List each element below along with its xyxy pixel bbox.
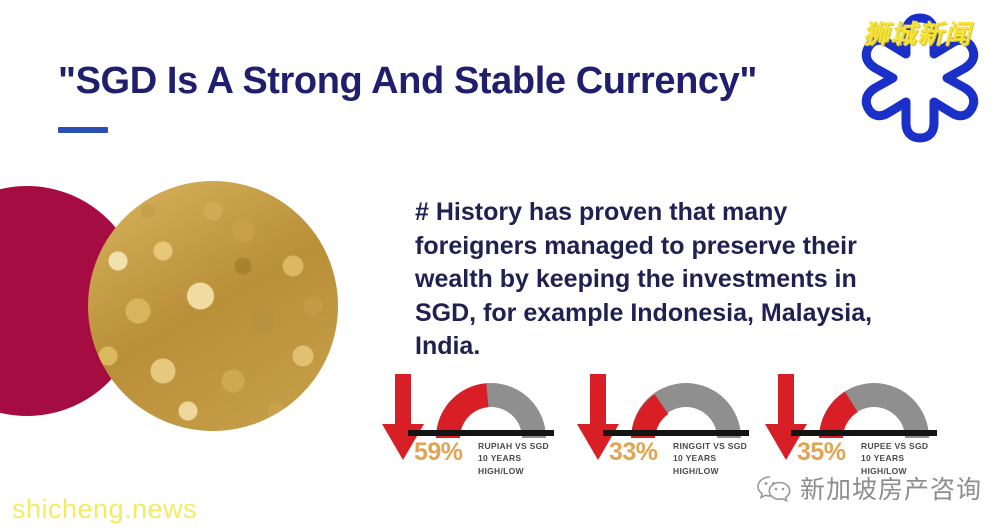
caption-line-period: 10 YEARS <box>673 452 747 464</box>
stat-caption: RINGGIT VS SGD 10 YEARS HIGH/LOW <box>673 440 747 477</box>
gauge-baseline <box>603 430 749 436</box>
gauge-baseline <box>791 430 937 436</box>
stat-percent: 35% <box>797 438 846 467</box>
wechat-badge: 新加坡房产咨询 <box>757 470 982 506</box>
gauge-baseline <box>408 430 554 436</box>
caption-line-period: 10 YEARS <box>478 452 549 464</box>
wechat-icon <box>757 474 791 502</box>
site-watermark: shicheng.news <box>12 494 197 525</box>
stat-percent: 59% <box>414 438 463 467</box>
stat-caption: RUPIAH VS SGD 10 YEARS HIGH/LOW <box>478 440 549 477</box>
body-paragraph: # History has proven that many foreigner… <box>415 196 915 364</box>
wechat-label: 新加坡房产咨询 <box>800 470 982 506</box>
stat-percent: 33% <box>609 438 658 467</box>
caption-line-period: 10 YEARS <box>861 452 928 464</box>
title-underline-accent <box>58 127 108 133</box>
slide-canvas: "SGD Is A Strong And Stable Currency" # … <box>0 0 1005 532</box>
caption-line-range: HIGH/LOW <box>478 465 549 477</box>
gold-coins-image <box>88 181 338 431</box>
caption-line-currency: RUPIAH VS SGD <box>478 440 549 452</box>
page-title: "SGD Is A Strong And Stable Currency" <box>58 60 757 103</box>
stat-block: 59% RUPIAH VS SGD 10 YEARS HIGH/LOW <box>378 368 573 478</box>
caption-line-range: HIGH/LOW <box>673 465 747 477</box>
stat-block: 33% RINGGIT VS SGD 10 YEARS HIGH/LOW <box>573 368 768 478</box>
caption-line-currency: RINGGIT VS SGD <box>673 440 747 452</box>
logo-text: 狮城新闻 <box>863 14 971 51</box>
caption-line-currency: RUPEE VS SGD <box>861 440 928 452</box>
stats-group: 59% RUPIAH VS SGD 10 YEARS HIGH/LOW 33% … <box>378 368 978 478</box>
stat-block: 35% RUPEE VS SGD 10 YEARS HIGH/LOW <box>761 368 956 478</box>
